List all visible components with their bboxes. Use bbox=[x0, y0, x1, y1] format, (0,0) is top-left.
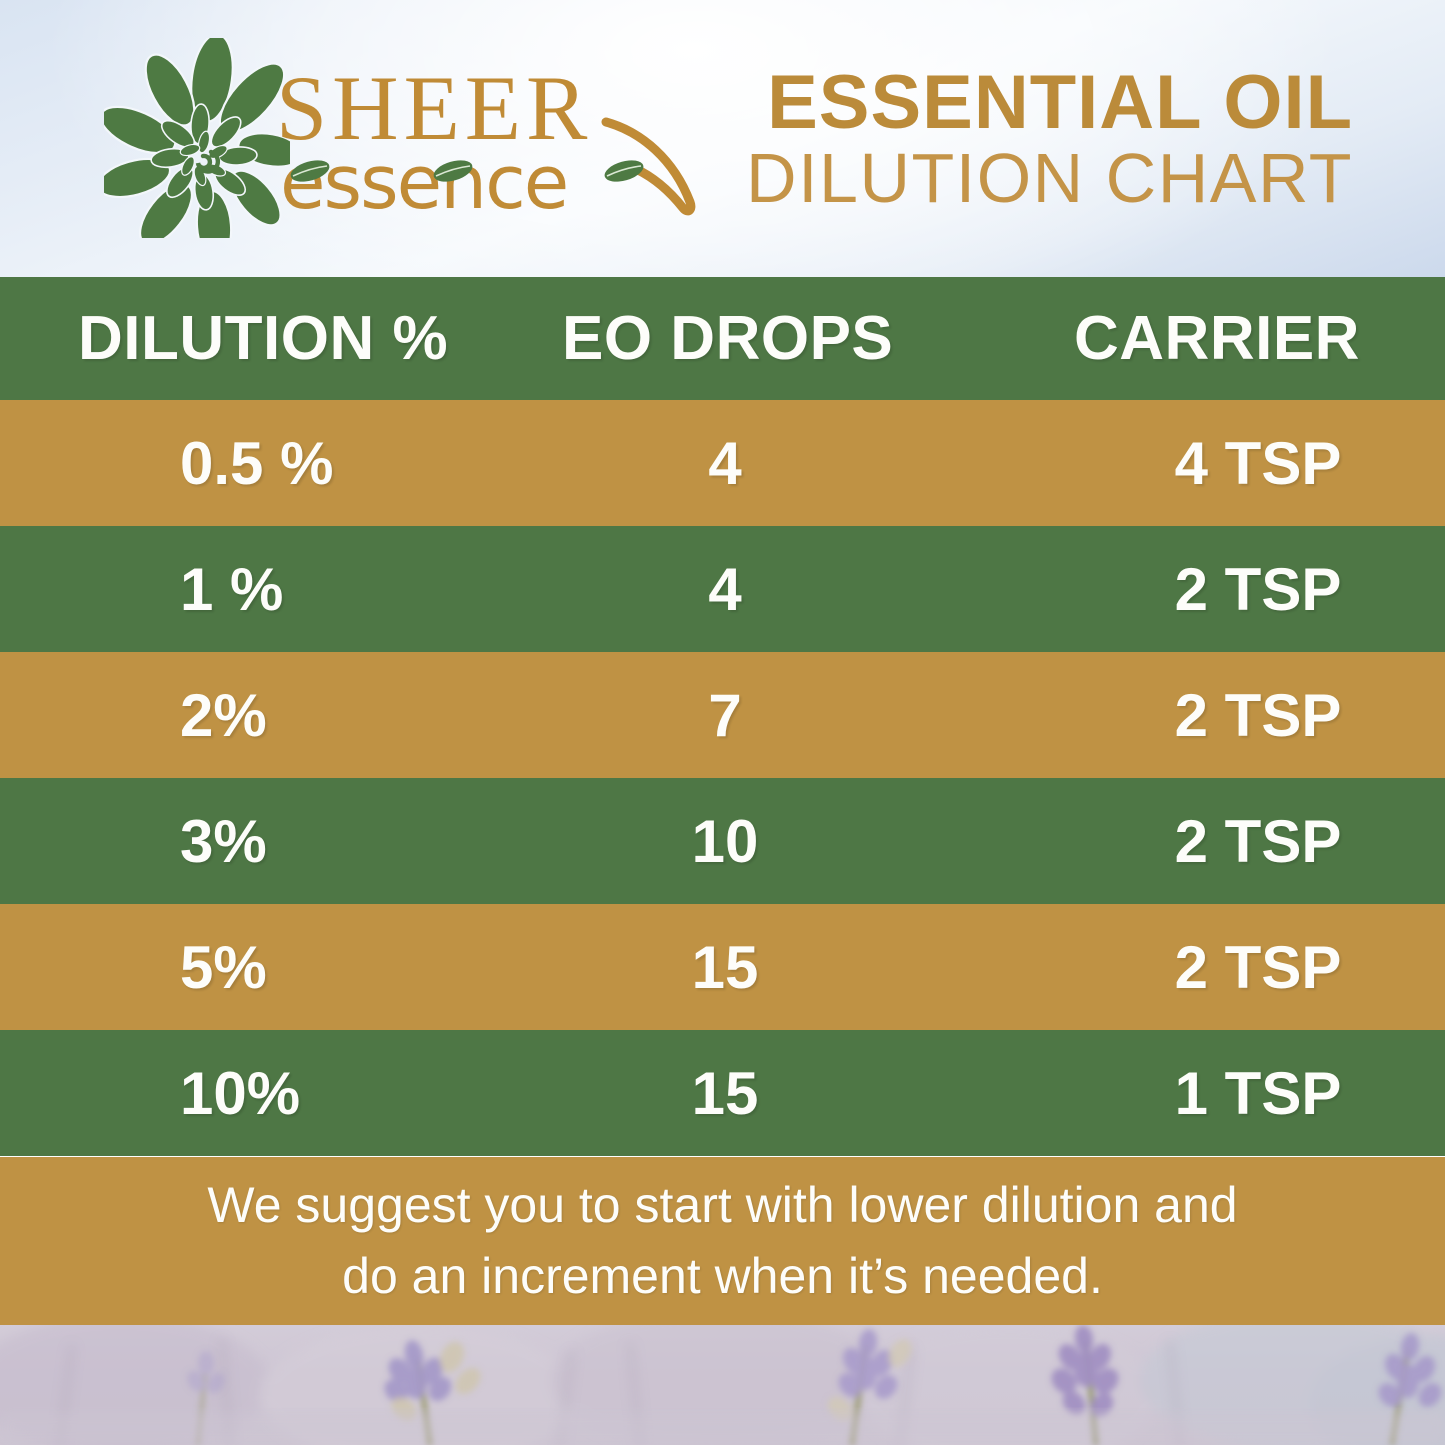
r-swash-flourish-icon bbox=[598, 116, 704, 226]
title-line-1: ESSENTIAL OIL bbox=[733, 66, 1353, 140]
lavender-field-photo bbox=[0, 1325, 1445, 1445]
cell-carrier: 1 TSP bbox=[1000, 1030, 1420, 1156]
footer-note-line-1: We suggest you to start with lower dilut… bbox=[207, 1170, 1237, 1241]
cell-eo-drops: 10 bbox=[540, 778, 910, 904]
cell-carrier: 2 TSP bbox=[1000, 778, 1420, 904]
cell-dilution: 3% bbox=[40, 778, 510, 904]
dilution-chart-infographic: SHEER essence bbox=[0, 0, 1445, 1445]
cell-dilution: 2% bbox=[40, 652, 510, 778]
column-header-dilution: DILUTION % bbox=[40, 277, 510, 400]
cell-eo-drops: 15 bbox=[540, 904, 910, 1030]
cell-carrier: 2 TSP bbox=[1000, 652, 1420, 778]
table-row: 10% 15 1 TSP bbox=[0, 1030, 1445, 1156]
cell-carrier: 2 TSP bbox=[1000, 526, 1420, 652]
brand-wordmark: SHEER essence bbox=[272, 62, 692, 237]
footer-note-line-2: do an increment when it’s needed. bbox=[342, 1241, 1103, 1312]
leaf-rosette-icon bbox=[104, 38, 290, 238]
cell-carrier: 2 TSP bbox=[1000, 904, 1420, 1030]
cell-dilution: 0.5 % bbox=[40, 400, 510, 526]
brand-name-bottom: essence bbox=[280, 146, 567, 220]
dilution-table: DILUTION % EO DROPS CARRIER 0.5 % 4 4 TS… bbox=[0, 277, 1445, 1156]
cell-carrier: 4 TSP bbox=[1000, 400, 1420, 526]
cell-eo-drops: 7 bbox=[540, 652, 910, 778]
footer-note: We suggest you to start with lower dilut… bbox=[0, 1157, 1445, 1325]
cell-eo-drops: 4 bbox=[540, 526, 910, 652]
table-row: 5% 15 2 TSP bbox=[0, 904, 1445, 1030]
table-row: 0.5 % 4 4 TSP bbox=[0, 400, 1445, 526]
table-row: 1 % 4 2 TSP bbox=[0, 526, 1445, 652]
page-title: ESSENTIAL OIL DILUTION CHART bbox=[733, 66, 1353, 216]
column-header-carrier: CARRIER bbox=[1000, 277, 1420, 400]
table-row: 2% 7 2 TSP bbox=[0, 652, 1445, 778]
cell-dilution: 1 % bbox=[40, 526, 510, 652]
cell-eo-drops: 4 bbox=[540, 400, 910, 526]
column-header-eo-drops: EO DROPS bbox=[540, 277, 910, 400]
cell-dilution: 5% bbox=[40, 904, 510, 1030]
cell-eo-drops: 15 bbox=[540, 1030, 910, 1156]
table-row: 3% 10 2 TSP bbox=[0, 778, 1445, 904]
table-header-row: DILUTION % EO DROPS CARRIER bbox=[0, 277, 1445, 400]
title-line-2: DILUTION CHART bbox=[733, 142, 1353, 216]
header-band: SHEER essence bbox=[0, 0, 1445, 277]
cell-dilution: 10% bbox=[40, 1030, 510, 1156]
